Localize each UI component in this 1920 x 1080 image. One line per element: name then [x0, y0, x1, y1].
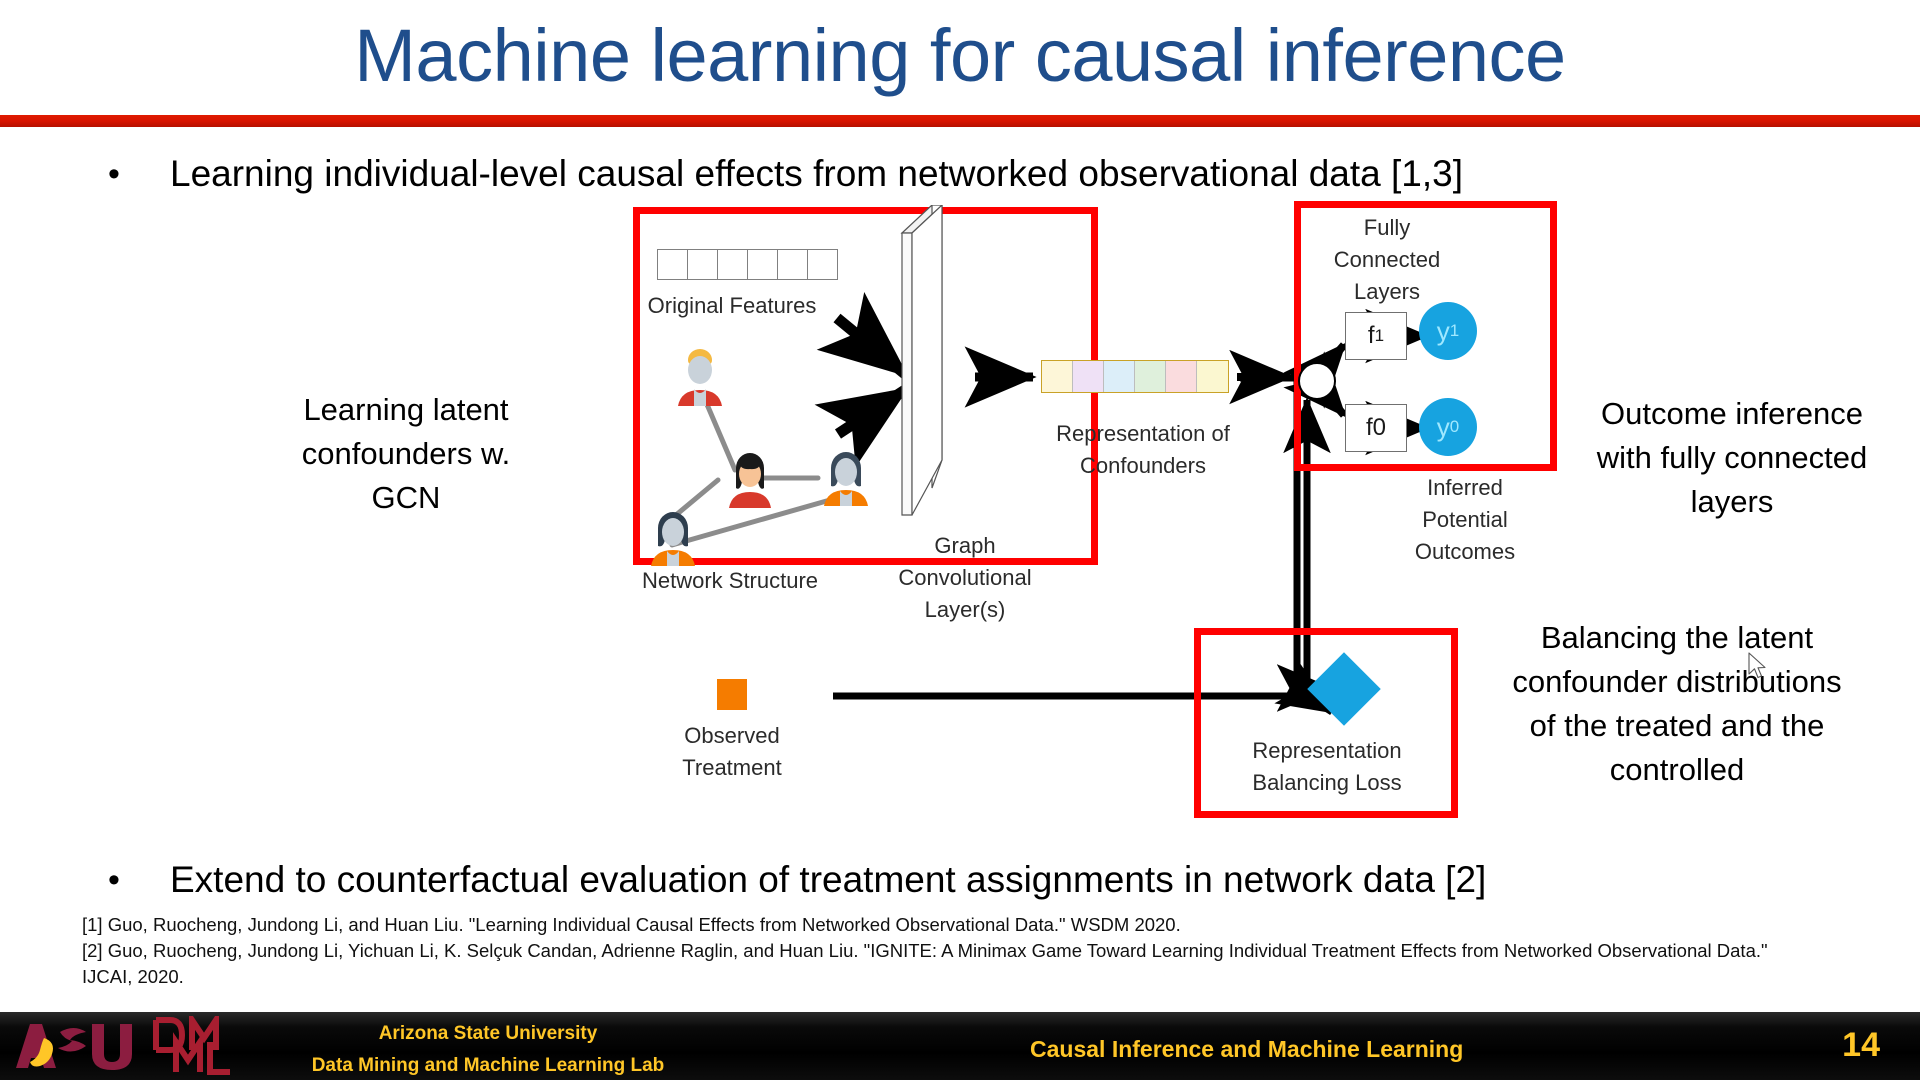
bullet-text: Extend to counterfactual evaluation of t…	[170, 858, 1486, 902]
representation-segment	[1166, 361, 1197, 392]
label-gcn-layers: Graph Convolutional Layer(s)	[880, 530, 1050, 626]
slide-canvas: Machine learning for causal inference • …	[0, 0, 1920, 1080]
representation-segment	[1135, 361, 1166, 392]
representation-segment	[1073, 361, 1104, 392]
fc-box-f1: f1	[1345, 312, 1407, 360]
footer-lab: Data Mining and Machine Learning Lab	[278, 1050, 698, 1080]
reference-item-1: [1] Guo, Ruocheng, Jundong Li, and Huan …	[82, 912, 1872, 938]
label-representation: Representation of Confounders	[1048, 418, 1238, 482]
mouse-cursor	[1748, 652, 1770, 682]
label-balancing-loss: Representation Balancing Loss	[1222, 735, 1432, 799]
label-fully-connected: Fully Connected Layers	[1312, 212, 1462, 308]
representation-segment	[1042, 361, 1073, 392]
reference-item-2: [2] Guo, Ruocheng, Jundong Li, Yichuan L…	[82, 938, 1872, 964]
bullet-item-2: • Extend to counterfactual evaluation of…	[108, 858, 1486, 902]
label-observed-treatment: Observed Treatment	[672, 720, 792, 784]
feature-cell	[717, 249, 748, 280]
observed-treatment-marker	[717, 679, 747, 710]
feature-cell	[777, 249, 808, 280]
representation-segment	[1197, 361, 1228, 392]
annotation-left: Learning latent confounders w. GCN	[276, 388, 536, 520]
concat-junction-node	[1298, 362, 1336, 400]
title-divider	[0, 115, 1920, 127]
dmml-logo	[148, 1016, 244, 1076]
person-icon-2	[722, 450, 778, 512]
feature-vector	[657, 249, 838, 280]
feature-cell	[687, 249, 718, 280]
references-block: [1] Guo, Ruocheng, Jundong Li, and Huan …	[82, 912, 1872, 990]
label-network-structure: Network Structure	[640, 565, 820, 597]
feature-cell	[747, 249, 778, 280]
annotation-right-bottom: Balancing the latent confounder distribu…	[1512, 616, 1842, 792]
fc-box-f0: f0	[1345, 404, 1407, 452]
person-icon-3	[818, 448, 874, 510]
bullet-text: Learning individual-level causal effects…	[170, 152, 1463, 196]
outcome-node-y0: y0	[1419, 398, 1477, 456]
gcn-layer-slab	[890, 205, 960, 535]
representation-segment	[1104, 361, 1135, 392]
bullet-item-1: • Learning individual-level causal effec…	[108, 152, 1463, 196]
footer-page-number: 14	[1842, 1026, 1880, 1065]
representation-vector	[1041, 360, 1229, 393]
reference-item-2-cont: IJCAI, 2020.	[82, 964, 1872, 990]
slide-footer: Arizona State University Data Mining and…	[0, 1012, 1920, 1080]
asu-logo	[10, 1018, 140, 1074]
page-title: Machine learning for causal inference	[0, 8, 1920, 104]
footer-course-title: Causal Inference and Machine Learning	[1030, 1036, 1463, 1063]
label-inferred-outcomes: Inferred Potential Outcomes	[1390, 472, 1540, 568]
footer-university: Arizona State University	[278, 1018, 698, 1050]
person-icon-4	[645, 508, 701, 570]
person-icon-1	[672, 348, 728, 410]
feature-cell	[657, 249, 688, 280]
label-original-features: Original Features	[642, 290, 822, 322]
bullet-marker: •	[108, 152, 170, 196]
feature-cell	[807, 249, 838, 280]
bullet-marker: •	[108, 858, 170, 902]
footer-university-block: Arizona State University Data Mining and…	[278, 1018, 698, 1080]
outcome-node-y1: y1	[1419, 302, 1477, 360]
annotation-right-top: Outcome inference with fully connected l…	[1582, 392, 1882, 524]
